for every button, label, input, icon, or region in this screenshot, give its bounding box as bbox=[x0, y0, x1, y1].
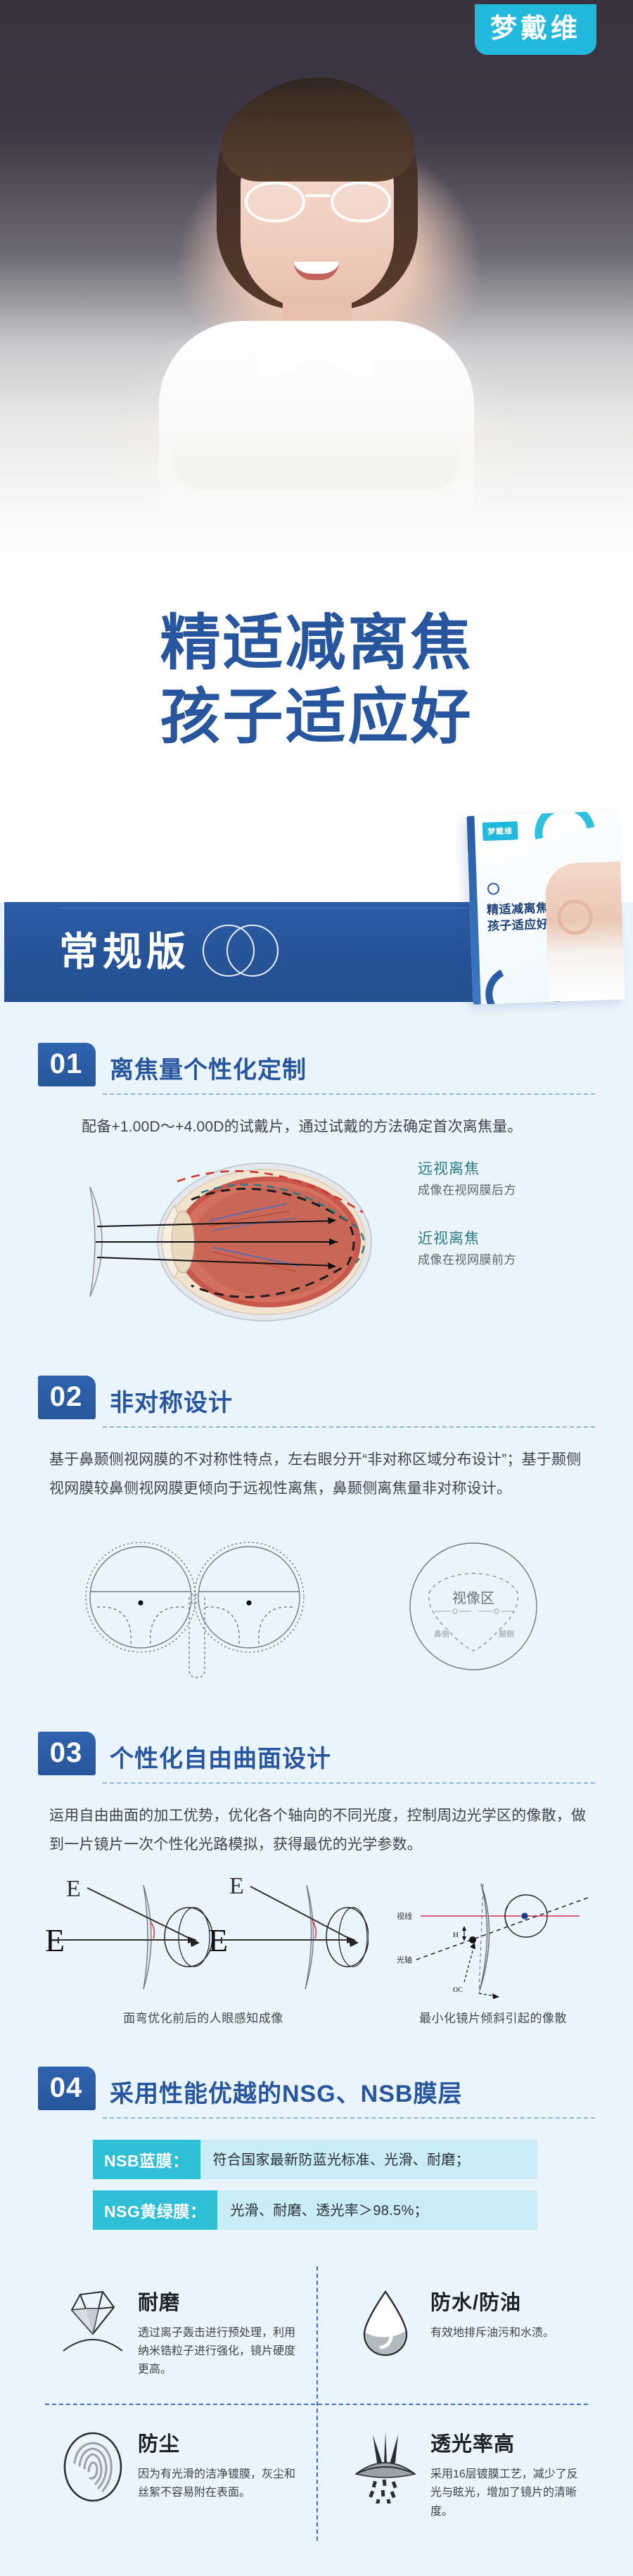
two-overlapping-rings-icon bbox=[203, 925, 279, 979]
product-detail-page: 梦戴维 精适减离焦 孩子适应好 常规版 梦戴维 bbox=[0, 0, 633, 2576]
feature-desc-transmission: 采用16层镀膜工艺，减少了反光与眩光，增加了镜片的清晰度。 bbox=[430, 2466, 582, 2521]
feature-card-transmission: 透光率高 采用16层镀膜工艺，减少了反光与眩光，增加了镜片的清晰度。 bbox=[316, 2404, 595, 2545]
product-package-image: 梦戴维 精适减离焦 孩子适应好 bbox=[466, 811, 625, 1004]
svg-text:E: E bbox=[229, 1873, 244, 1899]
section-03-title: 个性化自由曲面设计 bbox=[110, 1747, 331, 1775]
eyeglasses-zone-svg bbox=[79, 1533, 311, 1680]
retina-zone-circle-svg: 视像区 鼻侧 颞侧 bbox=[392, 1533, 554, 1680]
film-row-nsg: NSG黄绿膜： 光滑、耐磨、透光率＞98.5%； bbox=[93, 2190, 537, 2230]
feature-desc-abrasion: 透过离子轰击进行预处理，利用纳米锆粒子进行强化，镜片硬度更高。 bbox=[138, 2324, 304, 2380]
section-04-title: 采用性能优越的NSG、NSB膜层 bbox=[110, 2082, 462, 2110]
section-03-caption-1: 面弯优化前后的人眼感知成像 bbox=[38, 2008, 369, 2026]
perceived-image-svg: E E bbox=[38, 1872, 369, 1999]
film-coating-list: NSB蓝膜： 符合国家最新防蓝光标准、光滑、耐磨； NSG黄绿膜： 光滑、耐磨、… bbox=[93, 2140, 595, 2230]
sightline-label: 视线 bbox=[397, 1911, 412, 1921]
myopic-defocus-sublabel: 成像在视网膜前方 bbox=[418, 1250, 516, 1267]
section-03-number: 03 bbox=[38, 1732, 96, 1775]
regular-version-header: 常规版 梦戴维 精适减离焦 孩子适应好 bbox=[38, 902, 595, 1002]
hero-title-line-2: 孩子适应好 bbox=[0, 680, 633, 754]
section-04-number: 04 bbox=[38, 2067, 96, 2110]
product-box-logo: 梦戴维 bbox=[482, 821, 518, 841]
feature-desc-dustproof: 因为有光滑的洁净镀膜，灰尘和丝絮不容易附在表面。 bbox=[138, 2466, 304, 2503]
section-03: 03 个性化自由曲面设计 运用自由曲面的加工优势，优化各个轴向的不同光度，控制周… bbox=[38, 1732, 595, 2026]
regular-version-label: 常规版 bbox=[59, 932, 190, 972]
section-01-number: 01 bbox=[38, 1043, 96, 1086]
feature-title-dustproof: 防尘 bbox=[138, 2428, 304, 2457]
brand-logo: 梦戴维 bbox=[475, 4, 596, 55]
hero-banner: 梦戴维 精适减离焦 孩子适应好 bbox=[0, 0, 633, 816]
section-04: 04 采用性能优越的NSG、NSB膜层 NSB蓝膜： 符合国家最新防蓝光标准、光… bbox=[38, 2067, 595, 2230]
product-box-title: 精适减离焦 孩子适应好 bbox=[487, 901, 549, 935]
section-02-body: 基于鼻颞侧视网膜的不对称性特点，左右眼分开“非对称区域分布设计”；基于颞侧视网膜… bbox=[49, 1446, 595, 1504]
eye-diagram-labels: 远视离焦 成像在视网膜后方 近视离焦 成像在视网膜前方 bbox=[418, 1157, 516, 1267]
feature-card-waterproof: 防水/防油 有效地排斥油污和水渍。 bbox=[316, 2262, 595, 2404]
film-row-nsb: NSB蓝膜： 符合国家最新防蓝光标准、光滑、耐磨； bbox=[93, 2140, 537, 2179]
oc-label: OC bbox=[453, 1986, 463, 1994]
section-01-title: 离焦量个性化定制 bbox=[110, 1058, 307, 1086]
tilt-astigmatism-svg: 视线 光轴 H bbox=[391, 1872, 595, 1999]
hero-title: 精适减离焦 孩子适应好 bbox=[0, 607, 633, 754]
asymmetric-lens-zones-diagram: 视像区 鼻侧 颞侧 bbox=[38, 1522, 595, 1691]
section-01-body: 配备+1.00D～+4.00D的试戴片，通过试戴的方法确定首次离焦量。 bbox=[82, 1113, 595, 1142]
tilt-astigmatism-diagram: 视线 光轴 H bbox=[391, 1872, 595, 2026]
product-box-child-photo bbox=[544, 861, 625, 1002]
section-02-divider bbox=[103, 1426, 595, 1428]
section-03-divider bbox=[103, 1782, 595, 1784]
section-02-title: 非对称设计 bbox=[110, 1391, 233, 1419]
water-drop-icon bbox=[349, 2286, 422, 2380]
nasal-side-label: 鼻侧 bbox=[434, 1629, 449, 1639]
eyeglasses-icon bbox=[245, 182, 391, 225]
feature-desc-waterproof: 有效地排斥油污和水渍。 bbox=[430, 2324, 554, 2342]
hero-photo bbox=[0, 0, 633, 577]
child-model-illustration bbox=[134, 77, 499, 570]
film-row-nsb-key: NSB蓝膜： bbox=[93, 2140, 200, 2179]
feature-title-abrasion: 耐磨 bbox=[138, 2286, 304, 2316]
svg-text:E: E bbox=[66, 1876, 81, 1902]
eye-defocus-diagram: 远视离焦 成像在视网膜后方 近视离焦 成像在视网膜前方 bbox=[38, 1153, 595, 1335]
feature-title-waterproof: 防水/防油 bbox=[430, 2286, 554, 2316]
section-02: 02 非对称设计 基于鼻颞侧视网膜的不对称性特点，左右眼分开“非对称区域分布设计… bbox=[38, 1376, 595, 1691]
section-01: 01 离焦量个性化定制 配备+1.00D～+4.00D的试戴片，通过试戴的方法确… bbox=[38, 1043, 595, 1335]
section-04-divider bbox=[103, 2117, 595, 2119]
freeform-optics-diagrams: E E bbox=[38, 1872, 595, 2026]
light-transmission-icon bbox=[349, 2428, 422, 2521]
film-row-nsb-value: 符合国家最新防蓝光标准、光滑、耐磨； bbox=[200, 2140, 537, 2179]
feature-grid: 耐磨 透过离子轰击进行预处理，利用纳米锆粒子进行强化，镜片硬度更高。 防水/防油 bbox=[38, 2262, 595, 2545]
temporal-side-label: 颞侧 bbox=[499, 1630, 514, 1639]
product-box-ring-icon bbox=[487, 882, 500, 895]
hero-title-line-1: 精适减离焦 bbox=[0, 607, 633, 680]
eye-cross-section-svg bbox=[53, 1153, 419, 1329]
vision-zone-label: 视像区 bbox=[452, 1590, 494, 1606]
feature-card-abrasion: 耐磨 透过离子轰击进行预处理，利用纳米锆粒子进行强化，镜片硬度更高。 bbox=[38, 2262, 316, 2404]
feature-title-transmission: 透光率高 bbox=[430, 2428, 582, 2457]
section-02-number: 02 bbox=[38, 1376, 96, 1419]
hyperopic-defocus-label: 远视离焦 bbox=[418, 1157, 516, 1179]
section-03-body: 运用自由曲面的加工优势，优化各个轴向的不同光度，控制周边光学区的像散，做到一片镜… bbox=[49, 1802, 595, 1860]
feature-card-dustproof: 防尘 因为有光滑的洁净镀膜，灰尘和丝絮不容易附在表面。 bbox=[38, 2404, 316, 2545]
hyperopic-defocus-sublabel: 成像在视网膜后方 bbox=[418, 1180, 516, 1198]
fingerprint-icon bbox=[56, 2428, 129, 2521]
film-row-nsg-value: 光滑、耐磨、透光率＞98.5%； bbox=[217, 2190, 537, 2230]
perceived-image-diagram: E E bbox=[38, 1872, 369, 2026]
section-03-caption-2: 最小化镜片倾斜引起的像散 bbox=[391, 2008, 595, 2026]
myopic-defocus-label: 近视离焦 bbox=[418, 1227, 516, 1248]
section-01-divider bbox=[103, 1093, 595, 1095]
film-row-nsg-key: NSG黄绿膜： bbox=[93, 2190, 217, 2230]
content-area: 常规版 梦戴维 精适减离焦 孩子适应好 bbox=[0, 902, 633, 2576]
feature-grid-horizontal-divider bbox=[45, 2404, 588, 2405]
optical-axis-label: 光轴 bbox=[397, 1955, 412, 1965]
diamond-icon bbox=[56, 2286, 129, 2380]
height-label: H bbox=[453, 1931, 459, 1939]
